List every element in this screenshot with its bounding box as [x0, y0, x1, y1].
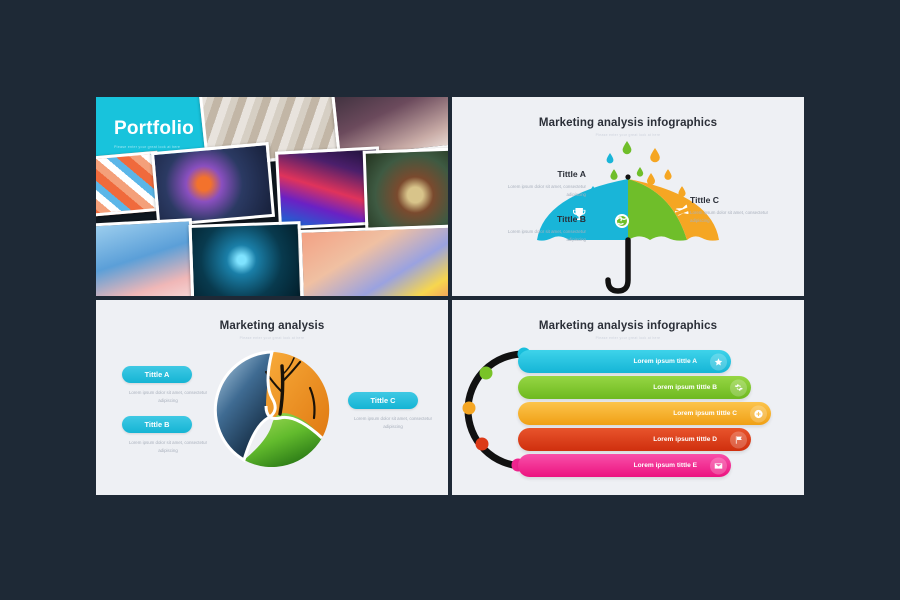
- portfolio-collage: Portfolio Please enter your great look a…: [96, 97, 448, 296]
- tile-3d-balls: [299, 224, 448, 296]
- bars-heading-group: Marketing analysis infographics Please e…: [452, 320, 804, 340]
- slide-subtitle-swirl: Please enter your great look at here: [96, 336, 448, 340]
- portfolio-heading-group: Portfolio Please enter your great look a…: [114, 119, 194, 149]
- bar-label-c: Lorem ipsum tittle C: [673, 410, 737, 417]
- arc-dot-c: [463, 402, 476, 415]
- umbrella-handle: [608, 240, 628, 291]
- bar-item-e[interactable]: Lorem ipsum tittle E: [518, 454, 731, 477]
- bar-label-e: Lorem ipsum tittle E: [634, 462, 697, 469]
- swirl-pill-a[interactable]: Tittle A: [122, 366, 192, 383]
- umbrella-label-b-body: Lorem ipsum dolor sit amet, consectetur …: [488, 228, 586, 243]
- umbrella-label-a-title: Tittle A: [488, 169, 586, 179]
- arc-track: [468, 354, 524, 466]
- slide-portfolio[interactable]: Portfolio Please enter your great look a…: [96, 97, 448, 296]
- bar-label-d: Lorem ipsum tittle D: [653, 436, 717, 443]
- swirl-pill-c[interactable]: Tittle C: [348, 392, 418, 409]
- swirl-graphic: [210, 348, 334, 472]
- gear-icon[interactable]: [730, 379, 747, 396]
- swirl-note-c: Lorem ipsum dolor sit amet, consectetur …: [348, 415, 438, 431]
- bar-item-d[interactable]: Lorem ipsum tittle D: [518, 428, 751, 451]
- slide-swirl[interactable]: Marketing analysis Please enter your gre…: [96, 300, 448, 495]
- umbrella-label-c-title: Tittle C: [690, 195, 788, 205]
- slides-grid: Portfolio Please enter your great look a…: [96, 97, 804, 495]
- slide-title-swirl: Marketing analysis: [96, 320, 448, 332]
- tile-space-flower: [151, 142, 275, 227]
- swirl-note-a: Lorem ipsum dolor sit amet, consectetur …: [122, 389, 214, 405]
- bar-item-c[interactable]: Lorem ipsum tittle C: [518, 402, 771, 425]
- bar-label-b: Lorem ipsum tittle B: [653, 384, 717, 391]
- swirl-heading-group: Marketing analysis Please enter your gre…: [96, 320, 448, 340]
- bar-item-b[interactable]: Lorem ipsum tittle B: [518, 376, 751, 399]
- umbrella-graphic: Tittle A Lorem ipsum dolor sit amet, con…: [452, 97, 804, 296]
- envelope-icon[interactable]: [710, 457, 727, 474]
- slide-deck-canvas: Portfolio Please enter your great look a…: [0, 0, 900, 600]
- arc-dot-d: [476, 438, 489, 451]
- swirl-group-a: Tittle A Lorem ipsum dolor sit amet, con…: [122, 366, 214, 405]
- umbrella-label-a-body: Lorem ipsum dolor sit amet, consectetur …: [488, 183, 586, 198]
- arc-dot-b: [480, 367, 493, 380]
- swirl-note-b: Lorem ipsum dolor sit amet, consectetur …: [122, 439, 214, 455]
- umbrella-label-c: Tittle C Lorem ipsum dolor sit amet, con…: [690, 195, 788, 225]
- swirl-svg: [210, 348, 334, 472]
- umbrella-label-c-body: Lorem ipsum dolor sit amet, consectetur …: [690, 209, 788, 224]
- star-icon[interactable]: [710, 353, 727, 370]
- slide-bars[interactable]: Marketing analysis infographics Please e…: [452, 300, 804, 495]
- slide-umbrella[interactable]: Marketing analysis infographics Please e…: [452, 97, 804, 296]
- swirl-group-b: Tittle B Lorem ipsum dolor sit amet, con…: [122, 416, 214, 455]
- tile-blue-livingroom: [96, 218, 196, 296]
- page-title: Portfolio: [114, 119, 194, 138]
- bar-item-a[interactable]: Lorem ipsum tittle A: [518, 350, 731, 373]
- umbrella-label-a: Tittle A Lorem ipsum dolor sit amet, con…: [488, 169, 586, 199]
- globe-icon: [615, 214, 629, 228]
- flag-icon[interactable]: [730, 431, 747, 448]
- slide-title-bars: Marketing analysis infographics: [452, 320, 804, 332]
- swirl-pill-b[interactable]: Tittle B: [122, 416, 192, 433]
- slide-subtitle-bars: Please enter your great look at here: [452, 336, 804, 340]
- umbrella-label-b: Tittle B Lorem ipsum dolor sit amet, con…: [488, 214, 586, 244]
- plus-icon[interactable]: [750, 405, 767, 422]
- bar-label-a: Lorem ipsum tittle A: [633, 358, 697, 365]
- tile-terrarium-pot: [363, 147, 448, 231]
- swirl-group-c: Tittle C Lorem ipsum dolor sit amet, con…: [348, 392, 438, 431]
- portfolio-subtitle: Please enter your great look at here: [114, 145, 194, 149]
- bars-list: Lorem ipsum tittle A Lorem ipsum tittle …: [518, 350, 798, 480]
- tile-jellyfish: [189, 221, 304, 296]
- umbrella-label-b-title: Tittle B: [488, 214, 586, 224]
